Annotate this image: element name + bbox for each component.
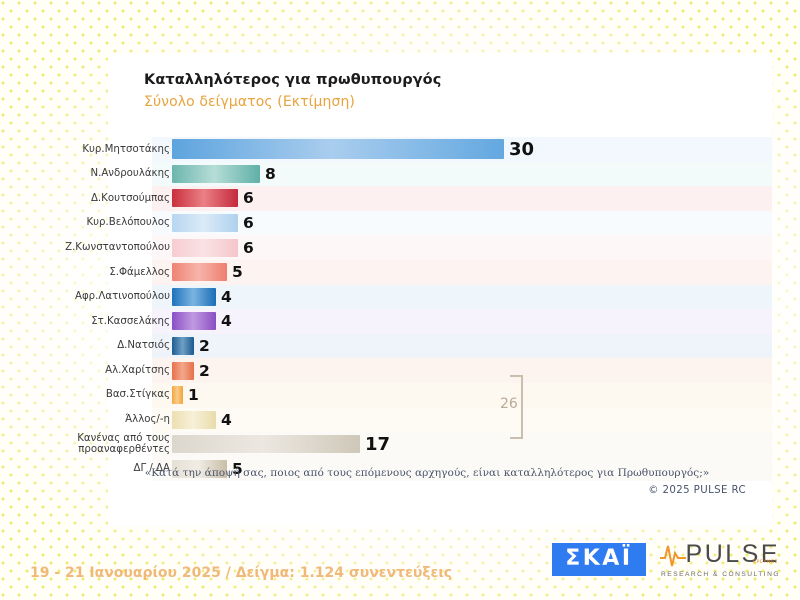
table-row: Σ.Φάμελλος5 xyxy=(108,260,772,285)
bar-value: 1 xyxy=(188,386,199,404)
bar-container: 2 xyxy=(172,334,210,359)
bar xyxy=(172,411,216,429)
bar-value: 4 xyxy=(221,411,232,429)
bar-container: 8 xyxy=(172,162,276,187)
bar-container: 5 xyxy=(172,260,243,285)
row-background xyxy=(152,358,772,383)
bar-container: 30 xyxy=(172,137,534,162)
bar-label: Κυρ.Βελόπουλος xyxy=(4,217,170,229)
bar-container: 4 xyxy=(172,285,232,310)
bar-value: 6 xyxy=(243,239,254,257)
bar xyxy=(172,435,360,453)
bar-value: 30 xyxy=(509,139,534,160)
bar xyxy=(172,214,238,232)
bar-container: 2 xyxy=(172,358,210,383)
bar xyxy=(172,312,216,330)
bar-label: Στ.Κασσελάκης xyxy=(4,316,170,328)
pulse-logo: PULSE ΕΡΕΥΝΕΣ RESEARCH & CONSULTING xyxy=(660,540,780,578)
table-row: Αφρ.Λατινοπούλου4 xyxy=(108,285,772,310)
table-row: Στ.Κασσελάκης4 xyxy=(108,309,772,334)
bar xyxy=(172,386,183,404)
bar xyxy=(172,362,194,380)
skai-logo: ΣΚΑΪ xyxy=(552,543,645,576)
bar-container: 6 xyxy=(172,235,254,260)
bar-label: Αφρ.Λατινοπούλου xyxy=(4,291,170,303)
row-background xyxy=(152,408,772,433)
bracket-vertical xyxy=(521,375,523,439)
pulse-tagline-greek: ΕΡΕΥΝΕΣ xyxy=(753,560,778,565)
group-bracket-annotation: 26 xyxy=(504,372,530,442)
bar-label: Κυρ.Μητσοτάκης xyxy=(4,144,170,156)
bar-container: 4 xyxy=(172,408,232,433)
page-title: Καταλληλότερος για πρωθυπουργός xyxy=(144,72,441,88)
row-background xyxy=(152,334,772,359)
bar-value: 2 xyxy=(199,337,210,355)
bar-label: Άλλος/-η xyxy=(4,414,170,426)
bar xyxy=(172,139,504,159)
bar-container: 6 xyxy=(172,211,254,236)
bar xyxy=(172,189,238,207)
row-background xyxy=(152,285,772,310)
table-row: Άλλος/-η4 xyxy=(108,408,772,433)
bracket-top xyxy=(510,375,522,377)
bar-label: Σ.Φάμελλος xyxy=(4,267,170,279)
bar-value: 8 xyxy=(265,165,276,183)
bar-rows: Κυρ.Μητσοτάκης30Ν.Ανδρουλάκης8Δ.Κουτσούμ… xyxy=(108,137,772,481)
bar-label: Δ.Κουτσούμπας xyxy=(4,193,170,205)
pulse-subtitle: RESEARCH & CONSULTING xyxy=(660,571,780,578)
bar-value: 5 xyxy=(232,263,243,281)
table-row: Κυρ.Βελόπουλος6 xyxy=(108,211,772,236)
table-row: Κυρ.Μητσοτάκης30 xyxy=(108,137,772,162)
bar xyxy=(172,165,260,183)
row-background xyxy=(152,260,772,285)
bar-value: 17 xyxy=(365,434,390,455)
chart-subtitle: Σύνολο δείγματος (Εκτίμηση) xyxy=(144,94,355,110)
bar-value: 6 xyxy=(243,189,254,207)
bar-value: 6 xyxy=(243,214,254,232)
table-row: Ζ.Κωνσταντοπούλου6 xyxy=(108,235,772,260)
pulse-wave-icon xyxy=(660,540,686,568)
bar-label: Κανένας από τους προαναφερθέντες xyxy=(4,433,170,456)
bar-value: 4 xyxy=(221,288,232,306)
bar xyxy=(172,288,216,306)
bar-label: Αλ.Χαρίτσης xyxy=(4,365,170,377)
bar-container: 1 xyxy=(172,383,199,408)
row-background xyxy=(152,309,772,334)
bar xyxy=(172,337,194,355)
bar-label: Ν.Ανδρουλάκης xyxy=(4,168,170,180)
table-row: Ν.Ανδρουλάκης8 xyxy=(108,162,772,187)
table-row: Κανένας από τους προαναφερθέντες17 xyxy=(108,432,772,457)
bar-value: 4 xyxy=(221,312,232,330)
table-row: Βασ.Στίγκας1 xyxy=(108,383,772,408)
bracket-value: 26 xyxy=(500,396,518,412)
bar-label: Ζ.Κωνσταντοπούλου xyxy=(4,242,170,254)
bar xyxy=(172,263,227,281)
bracket-bottom xyxy=(510,437,522,439)
bar-value: 2 xyxy=(199,362,210,380)
table-row: Δ.Κουτσούμπας6 xyxy=(108,186,772,211)
bar-container: 17 xyxy=(172,432,390,457)
logo-group: ΣΚΑΪ PULSE ΕΡΕΥΝΕΣ RESEARCH & CONSULTING xyxy=(552,540,780,578)
bar-container: 6 xyxy=(172,186,254,211)
chart-card: Καταλληλότερος για πρωθυπουργός Σύνολο δ… xyxy=(108,54,772,526)
copyright-note: © 2025 PULSE RC xyxy=(648,485,746,496)
bar-label: Δ.Νατσιός xyxy=(4,340,170,352)
table-row: Αλ.Χαρίτσης2 xyxy=(108,358,772,383)
bar-container: 4 xyxy=(172,309,232,334)
date-sample-info: 19 - 21 Ιανουαρίου 2025 / Δείγμα: 1.124 … xyxy=(30,565,452,581)
bar-label: Βασ.Στίγκας xyxy=(4,389,170,401)
bar xyxy=(172,239,238,257)
survey-question: «Κατά την άποψή σας, ποιος από τους επόμ… xyxy=(108,467,746,479)
table-row: Δ.Νατσιός2 xyxy=(108,334,772,359)
row-background xyxy=(152,383,772,408)
